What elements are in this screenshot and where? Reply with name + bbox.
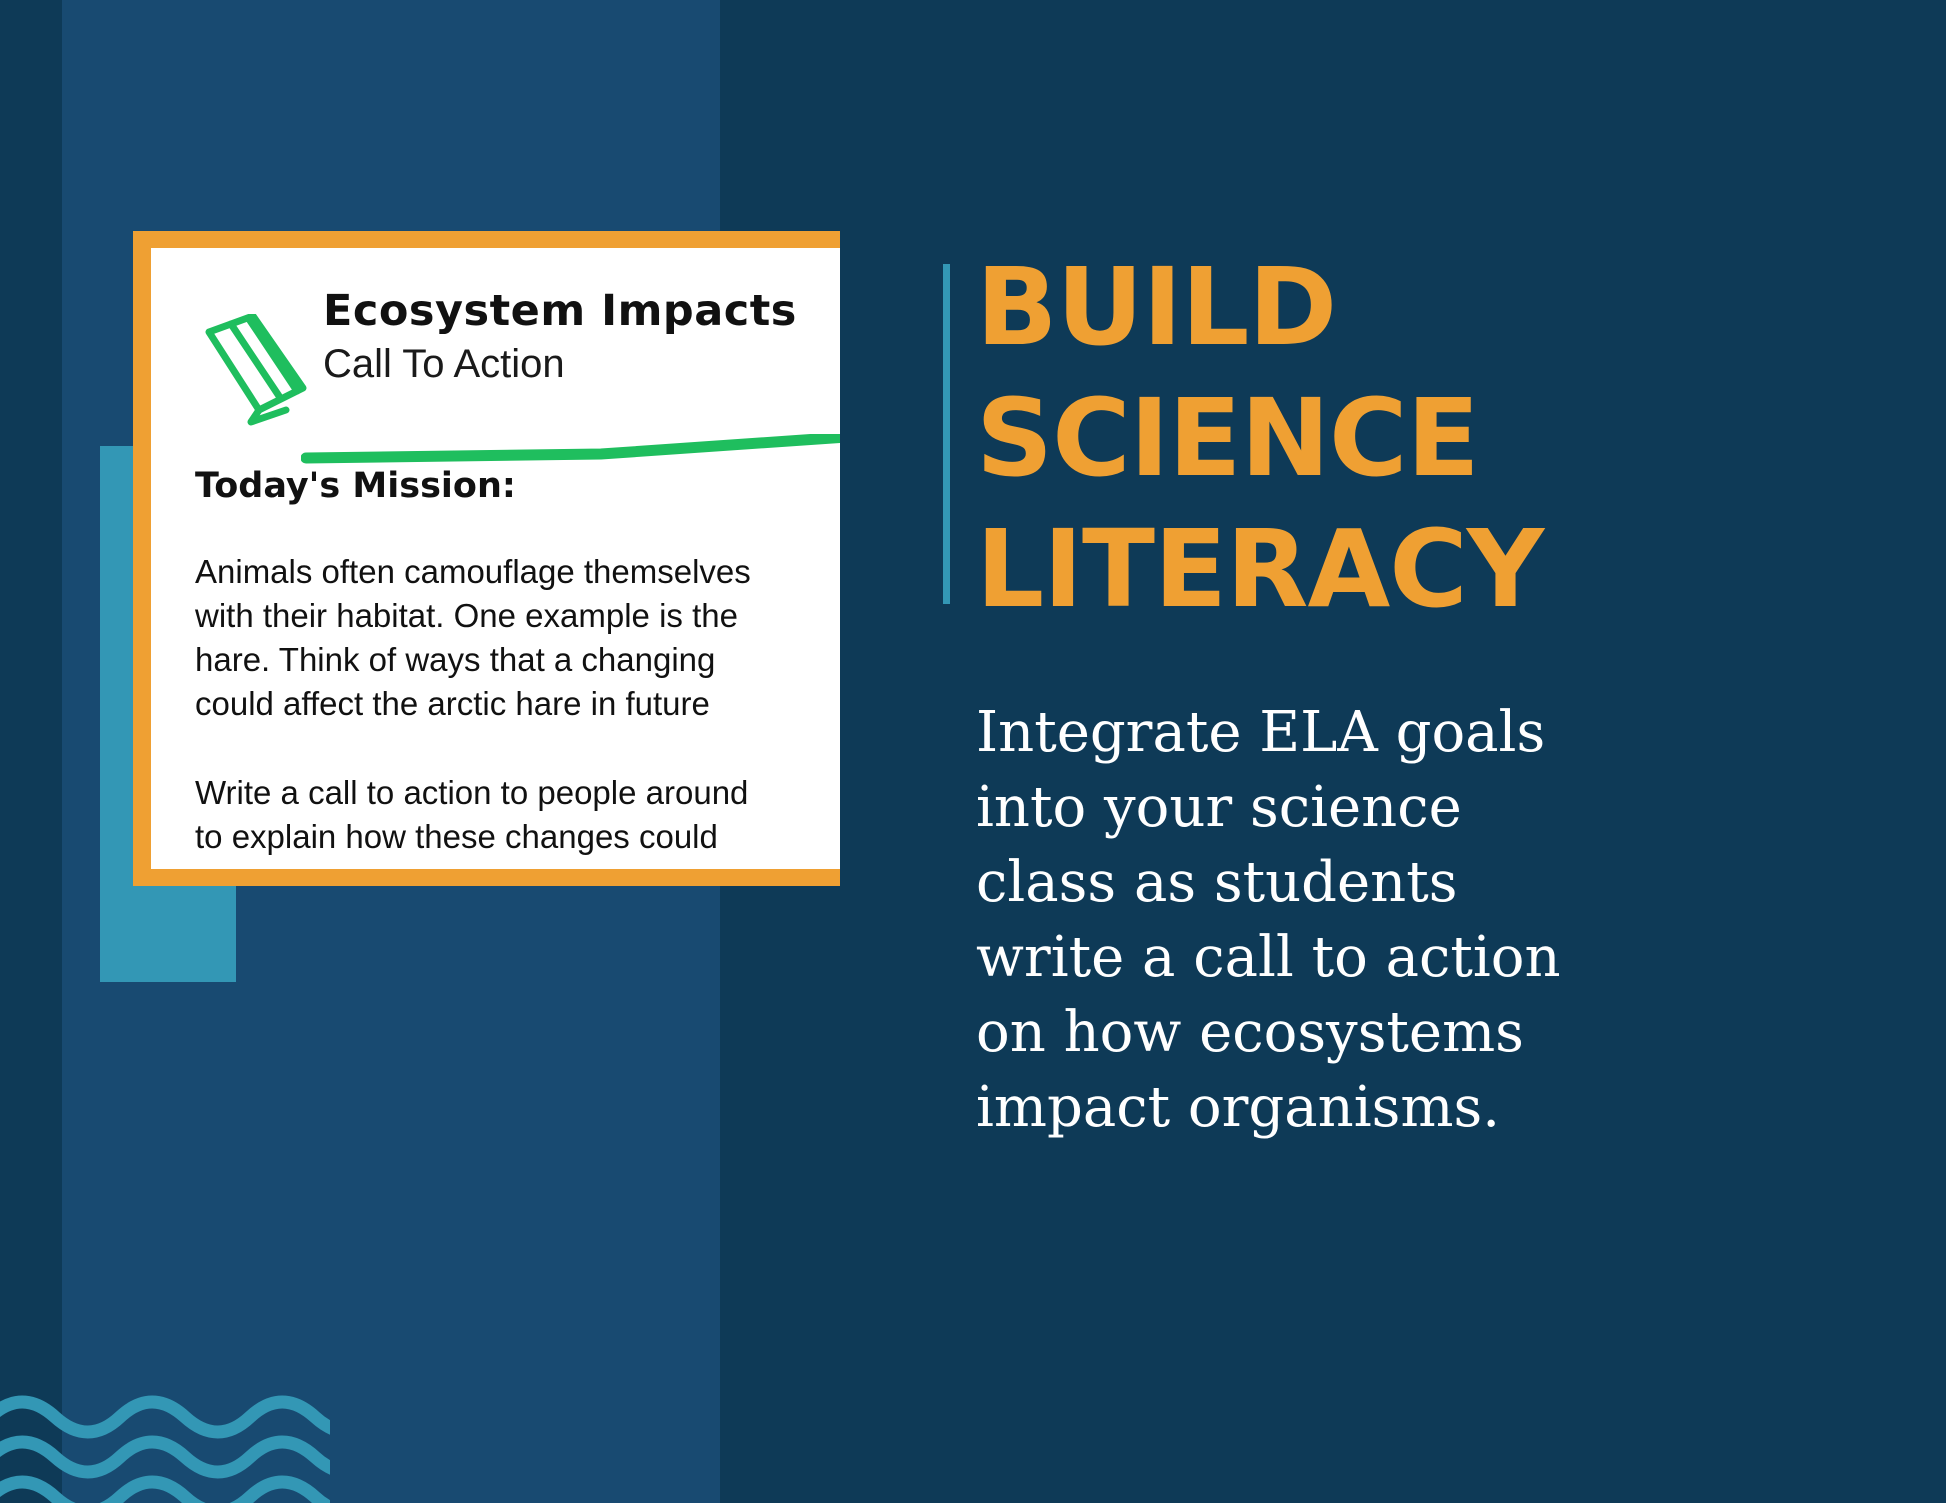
- worksheet-header: Ecosystem Impacts Call To Action: [151, 266, 840, 441]
- description-line: write a call to action: [976, 920, 1916, 995]
- vertical-accent-bar: [943, 264, 950, 604]
- page-title: BUILD SCIENCE LITERACY: [976, 243, 1916, 636]
- description-line: on how ecosystems: [976, 995, 1916, 1070]
- worksheet-paragraph-line: hare. Think of ways that a changing: [195, 638, 840, 682]
- worksheet-paragraph-line: Animals often camouflage themselves: [195, 550, 840, 594]
- worksheet-mission-label: Today's Mission:: [195, 466, 840, 506]
- description-line: into your science: [976, 770, 1916, 845]
- green-underline-rule: [301, 434, 840, 464]
- headline-line: BUILD: [976, 243, 1916, 374]
- description-line: impact organisms.: [976, 1070, 1916, 1145]
- worksheet-title: Ecosystem Impacts: [323, 286, 797, 336]
- worksheet-page: Ecosystem Impacts Call To Action Today's…: [151, 248, 840, 869]
- headline-line: SCIENCE: [976, 374, 1916, 505]
- worksheet-paragraph-line: with their habitat. One example is the: [195, 594, 840, 638]
- worksheet-body: Today's Mission: Animals often camouflag…: [195, 466, 840, 859]
- description-text: Integrate ELA goals into your science cl…: [976, 695, 1916, 1145]
- headline-line: LITERACY: [976, 505, 1916, 636]
- worksheet-paragraph-line: to explain how these changes could: [195, 815, 840, 859]
- description-line: class as students: [976, 845, 1916, 920]
- slide-canvas: Ecosystem Impacts Call To Action Today's…: [0, 0, 1946, 1503]
- wave-pattern-decoration: [0, 1385, 330, 1503]
- pencil-icon: [191, 314, 321, 434]
- worksheet-paragraph-2: Write a call to action to people around …: [195, 771, 840, 859]
- worksheet-paragraph-line: could affect the arctic hare in future: [195, 682, 840, 726]
- worksheet-paragraph-line: Write a call to action to people around: [195, 771, 840, 815]
- worksheet-paragraph-1: Animals often camouflage themselves with…: [195, 550, 840, 726]
- description-line: Integrate ELA goals: [976, 695, 1916, 770]
- worksheet-card[interactable]: Ecosystem Impacts Call To Action Today's…: [133, 231, 840, 886]
- worksheet-subtitle: Call To Action: [323, 342, 565, 387]
